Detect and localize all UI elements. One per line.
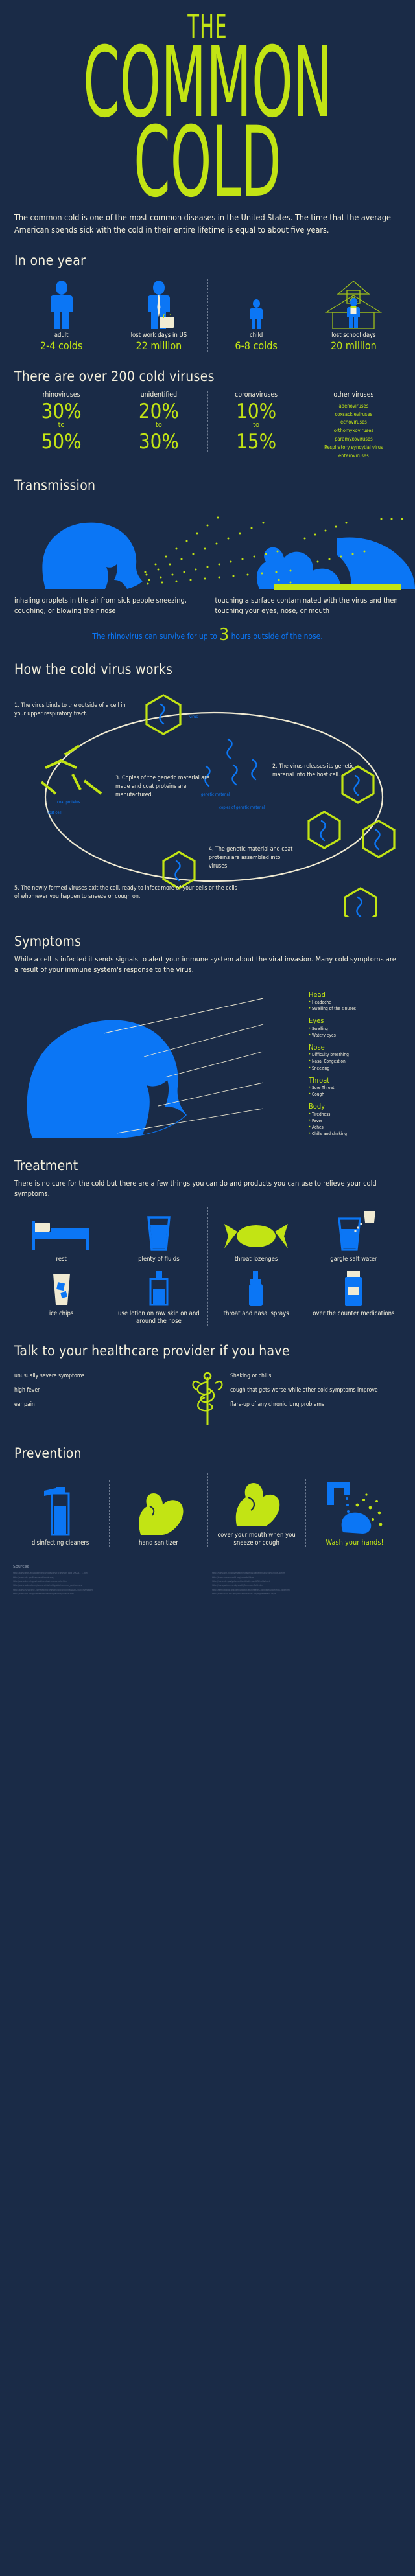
source-item: http://www.nlm.nih.gov/medlineplus/ency/… [13, 1592, 203, 1596]
list-item: flare-up of any chronic lung problems [230, 1397, 401, 1412]
virus-lifecycle-diagram: 1. The virus binds to the outside of a c… [0, 684, 415, 917]
treatment-caption: throat lozenges [210, 1256, 303, 1263]
transmission-captions: inhaling droplets in the air from sick p… [0, 590, 415, 616]
prevention-cover-mouth: cover your mouth when you sneeze or coug… [207, 1473, 305, 1548]
stat-adult: adult 2-4 colds [13, 279, 110, 352]
treatment-fluids: plenty of fluids use lotion on raw skin … [110, 1207, 207, 1326]
provider-symptoms-block: unusually severe symptoms high fever ear… [0, 1363, 415, 1429]
treatment-grid: rest ice chips plenty of fluids [0, 1199, 415, 1326]
sources-title: Sources [13, 1564, 402, 1569]
treatment-intro: There is no cure for the cold but there … [0, 1177, 415, 1199]
section-title-transmission: Transmission [0, 461, 415, 497]
label-host-cell: host cell [47, 811, 62, 815]
virus-unidentified: unidentified 20% to 30% [110, 391, 207, 452]
stat-value: 2-4 colds [16, 339, 107, 352]
symptom-item: Nasal Congestion [309, 1058, 406, 1064]
virus-low-pct: 10% [209, 402, 303, 421]
label-virus: virus [189, 715, 198, 719]
symptom-group-head: Head Headache Swelling of the sinuses [309, 991, 406, 1013]
stat-lost-school-days: lost school days 20 million [305, 279, 402, 352]
treatment-caption: ice chips [15, 1310, 108, 1318]
section-title-in-one-year: In one year [0, 236, 415, 272]
transmission-illustration [0, 500, 415, 590]
symptoms-list: Head Headache Swelling of the sinuses Ey… [309, 991, 406, 1142]
label-copies-of-genetic-material: copies of genetic material [219, 805, 265, 810]
section-title-cold-viruses: There are over 200 cold viruses [0, 352, 415, 388]
symptom-group-nose: Nose Difficulty breathing Nasal Congesti… [309, 1043, 406, 1072]
nasal-spray-icon [210, 1267, 303, 1307]
symptom-item: Watery eyes [309, 1032, 406, 1039]
lifecycle-step-3: 3. Copies of the genetic material are ma… [115, 774, 213, 800]
business-person-briefcase-icon [113, 279, 204, 329]
stat-child: child 6-8 colds [207, 279, 305, 352]
list-item: ear pain [14, 1397, 185, 1412]
lifecycle-step-1: 1. The virus binds to the outside of a c… [14, 702, 128, 719]
list-item: cough that gets worse while other cold s… [230, 1383, 401, 1397]
prevention-caption: cover your mouth when you sneeze or coug… [211, 1532, 303, 1548]
virus-to-label: to [14, 421, 108, 429]
prevention-caption: Wash your hands! [309, 1538, 401, 1547]
title-line-cold: COLD [83, 123, 332, 203]
schoolhouse-icon [308, 279, 399, 329]
provider-right-list: Shaking or chills cough that gets worse … [230, 1369, 401, 1429]
stat-label: lost work days in US [113, 332, 204, 339]
infographic-page: THE COMMON COLD The common cold is one o… [0, 0, 415, 1605]
treatment-rest: rest ice chips [13, 1207, 110, 1326]
section-title-how-it-works: How the cold virus works [0, 645, 415, 681]
sources-right-column: http://www.nim.nih.gov/medlineplus/ency/… [212, 1571, 402, 1596]
virus-high-pct: 50% [14, 433, 108, 452]
lotion-bottle-icon [112, 1267, 205, 1307]
child-person-icon [211, 279, 302, 329]
virus-low-pct: 20% [112, 402, 206, 421]
section-title-prevention: Prevention [0, 1429, 415, 1465]
symptom-item: Headache [309, 999, 406, 1006]
virus-breakdown-row: rhinoviruses 30% to 50% unidentified 20%… [0, 388, 415, 461]
treatment-caption: rest [15, 1256, 108, 1263]
virus-to-label: to [209, 421, 303, 429]
symptom-item: Aches [309, 1124, 406, 1131]
provider-left-list: unusually severe symptoms high fever ear… [14, 1369, 185, 1429]
bed-icon [15, 1207, 108, 1252]
head-silhouette-icon [6, 979, 266, 1141]
symptom-item: Tiredness [309, 1111, 406, 1118]
virus-name: coronaviruses [209, 391, 303, 398]
list-item: Respiratory syncytial virus [307, 444, 401, 452]
stat-label: lost school days [308, 332, 399, 339]
treatment-caption: over the counter medications [307, 1310, 400, 1318]
stat-label: adult [16, 332, 107, 339]
lifecycle-step-4: 4. The genetic material and coat protein… [209, 845, 300, 871]
prevention-hand-sanitizer: hand sanitizer [109, 1480, 207, 1547]
symptom-item: Cough [309, 1091, 406, 1098]
virus-name: rhinoviruses [14, 391, 108, 398]
in-one-year-row: adult 2-4 colds lost work days in US 22 … [0, 272, 415, 352]
transmission-inhaling-caption: inhaling droplets in the air from sick p… [14, 595, 207, 616]
symptom-group-throat: Throat Sore Throat Cough [309, 1076, 406, 1098]
list-item: Shaking or chills [230, 1369, 401, 1383]
virus-high-pct: 15% [209, 433, 303, 452]
survive-text-pre: The rhinovirus can survive for up to [92, 632, 217, 641]
symptom-item: Swelling of the sinuses [309, 1006, 406, 1012]
list-item: unusually severe symptoms [14, 1369, 185, 1383]
treatment-caption: plenty of fluids [112, 1256, 205, 1263]
lifecycle-step-5: 5. The newly formed viruses exit the cel… [14, 884, 241, 901]
spray-bottle-icon [14, 1480, 106, 1536]
virus-other: other viruses adenoviruses coxsackieviru… [305, 391, 402, 461]
prevention-grid: disinfecting cleaners hand sanitizer cov… [0, 1465, 415, 1548]
stat-label: child [211, 332, 302, 339]
list-item: enteroviruses [307, 452, 401, 461]
virus-to-label: to [112, 421, 206, 429]
hand-sanitizer-icon [112, 1480, 204, 1536]
symptoms-diagram: Head Headache Swelling of the sinuses Ey… [0, 979, 415, 1141]
list-item: echoviruses [307, 419, 401, 427]
transmission-touching-caption: touching a surface contaminated with the… [207, 595, 401, 616]
treatment-caption: gargle salt water [307, 1256, 400, 1263]
list-item: coxsackieviruses [307, 411, 401, 419]
virus-rhinoviruses: rhinoviruses 30% to 50% [13, 391, 110, 452]
sources-block: Sources http://www.umm.edu/patiented/art… [0, 1547, 415, 1605]
treatment-caption: use lotion on raw skin on and around the… [112, 1310, 205, 1326]
drinking-glass-icon [112, 1207, 205, 1252]
symptom-group-title: Body [309, 1102, 406, 1110]
symptom-item: Sore Throat [309, 1085, 406, 1091]
section-title-symptoms: Symptoms [0, 917, 415, 953]
survive-hours-number: 3 [219, 625, 229, 645]
virus-coronaviruses: coronaviruses 10% to 15% [207, 391, 305, 452]
symptom-group-body: Body Tiredness Fever Aches Chills and sh… [309, 1102, 406, 1137]
symptom-group-title: Eyes [309, 1017, 406, 1025]
treatment-caption: throat and nasal sprays [210, 1310, 303, 1318]
rhinovirus-survival-note: The rhinovirus can survive for up to 3 h… [0, 616, 415, 645]
sources-left-column: http://www.umm.edu/patiented/articles/wh… [13, 1571, 203, 1596]
salt-water-gargle-icon [307, 1207, 400, 1252]
list-item: paramyxoviruses [307, 435, 401, 444]
symptom-item: Sneezing [309, 1065, 406, 1072]
stat-value: 22 million [113, 339, 204, 352]
pill-bottle-icon [307, 1267, 400, 1307]
list-item: orthomyxoviruses [307, 427, 401, 435]
ice-chips-glass-icon [15, 1267, 108, 1307]
symptom-item: Fever [309, 1118, 406, 1124]
source-item: http://www.niaid.nih.gov/topics/commonCo… [212, 1592, 402, 1596]
symptom-group-title: Throat [309, 1076, 406, 1085]
stat-value: 20 million [308, 339, 399, 352]
stat-value: 6-8 colds [211, 339, 302, 352]
symptom-group-title: Nose [309, 1043, 406, 1052]
symptom-item: Chills and shaking [309, 1131, 406, 1137]
section-title-treatment: Treatment [0, 1141, 415, 1177]
hero-title-block: THE COMMON COLD [0, 0, 415, 203]
cover-mouth-icon [211, 1473, 303, 1528]
virus-low-pct: 30% [14, 402, 108, 421]
prevention-caption: hand sanitizer [112, 1539, 204, 1547]
list-item: high fever [14, 1383, 185, 1397]
caduceus-icon [185, 1369, 230, 1429]
faucet-water-icon [309, 1479, 401, 1535]
label-coat-proteins: coat proteins [57, 800, 80, 805]
survive-text-post: hours outside of the nose. [231, 632, 323, 641]
virus-name: unidentified [112, 391, 206, 398]
contaminated-surface-bar [274, 584, 401, 590]
lifecycle-step-2: 2. The virus releases its genetic materi… [272, 763, 370, 779]
symptom-group-eyes: Eyes Swelling Watery eyes [309, 1017, 406, 1039]
treatment-lozenges: throat lozenges throat and nasal sprays [207, 1207, 305, 1326]
adult-person-icon [16, 279, 107, 329]
symptoms-intro: While a cell is infected it sends signal… [0, 953, 415, 975]
virus-name: other viruses [307, 391, 401, 398]
prevention-wash-hands: Wash your hands! [305, 1479, 403, 1547]
prevention-caption: disinfecting cleaners [14, 1539, 106, 1547]
list-item: adenoviruses [307, 402, 401, 411]
treatment-gargle: gargle salt water over the counter medic… [305, 1207, 402, 1326]
symptom-item: Difficulty breathing [309, 1052, 406, 1058]
throat-lozenge-icon [210, 1207, 303, 1252]
symptom-group-title: Head [309, 991, 406, 999]
section-title-healthcare-provider: Talk to your healthcare provider if you … [0, 1326, 415, 1363]
symptom-item: Swelling [309, 1026, 406, 1032]
other-viruses-list: adenoviruses coxsackieviruses echoviruse… [307, 398, 401, 461]
stat-lost-work-days: lost work days in US 22 million [110, 279, 207, 352]
prevention-disinfecting-cleaners: disinfecting cleaners [12, 1480, 109, 1547]
virus-high-pct: 30% [112, 433, 206, 452]
